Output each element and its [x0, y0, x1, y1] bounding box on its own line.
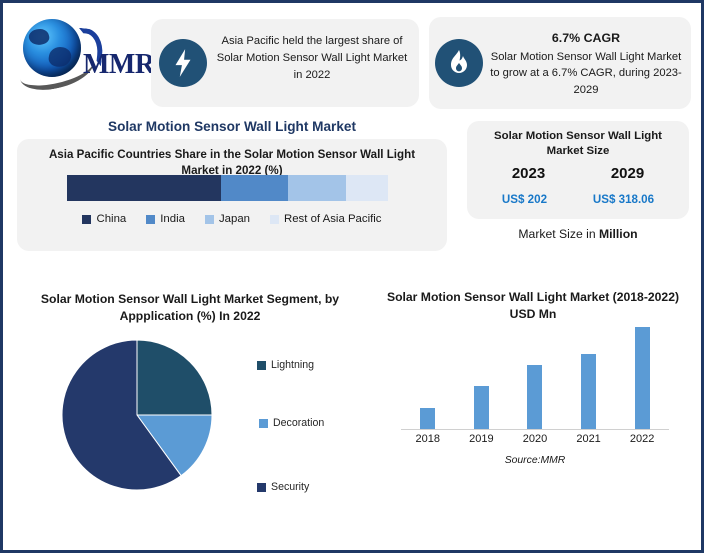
market-size-title: Solar Motion Sensor Wall Light Market Si… — [479, 129, 677, 160]
header-row: MMR Asia Pacific held the largest share … — [3, 9, 704, 115]
column-bar — [581, 354, 596, 429]
market-size-years: 2023 2029 — [479, 165, 677, 182]
column-bar — [474, 386, 489, 429]
legend-label: China — [96, 213, 126, 225]
legend-swatch-icon — [82, 215, 91, 224]
legend-swatch-icon — [257, 361, 266, 370]
column-bar — [527, 365, 542, 429]
legend-label: Japan — [219, 213, 250, 225]
legend-item: China — [82, 213, 126, 225]
flame-icon — [435, 39, 483, 87]
cagr-headline: 6.7% CAGR — [487, 29, 685, 48]
stacked-bar-series — [67, 175, 388, 201]
highlight-card-region: Asia Pacific held the largest share of S… — [151, 19, 419, 107]
segment-pie-legend: LightningDecorationSecurity — [253, 359, 363, 499]
highlight-region-text: Asia Pacific held the largest share of S… — [213, 33, 411, 83]
legend-swatch-icon — [270, 215, 279, 224]
legend-item: Rest of Asia Pacific — [270, 213, 382, 225]
column-x-label: 2021 — [576, 433, 600, 445]
market-size-card: Solar Motion Sensor Wall Light Market Si… — [467, 121, 689, 219]
column-x-label: 2020 — [523, 433, 547, 445]
cagr-description: Solar Motion Sensor Wall Light Market to… — [490, 51, 682, 97]
mmr-logo[interactable]: MMR — [19, 17, 151, 89]
stacked-bar-segment — [288, 175, 346, 201]
market-size-year-end: 2029 — [611, 165, 644, 182]
segment-pie-chart — [61, 339, 213, 491]
chart-title-share: Asia Pacific Countries Share in the Sola… — [35, 147, 429, 178]
column-chart-x-labels: 20182019202020212022 — [401, 433, 669, 445]
column-x-label: 2022 — [630, 433, 654, 445]
historic-column-chart — [401, 327, 669, 429]
lightning-bolt-icon — [159, 39, 207, 87]
legend-label: Decoration — [273, 417, 324, 429]
highlight-card-cagr: 6.7% CAGR Solar Motion Sensor Wall Light… — [429, 17, 691, 109]
legend-label: India — [160, 213, 185, 225]
highlight-cagr-text: 6.7% CAGR Solar Motion Sensor Wall Light… — [487, 29, 685, 99]
infographic-canvas: MMR Asia Pacific held the largest share … — [0, 0, 704, 553]
legend-swatch-icon — [205, 215, 214, 224]
column-bar — [635, 327, 650, 429]
legend-swatch-icon — [257, 483, 266, 492]
legend-label: Rest of Asia Pacific — [284, 213, 382, 225]
market-size-footnote-unit: Million — [599, 227, 638, 241]
legend-item: Decoration — [259, 417, 324, 429]
column-bars — [401, 327, 669, 429]
stacked-bar-segment — [346, 175, 388, 201]
chart-title-historic: Solar Motion Sensor Wall Light Market (2… — [383, 289, 683, 323]
legend-swatch-icon — [146, 215, 155, 224]
logo-text: MMR — [83, 49, 155, 81]
page-title: Solar Motion Sensor Wall Light Market — [17, 119, 447, 134]
asia-pacific-share-chart: Asia Pacific Countries Share in the Sola… — [17, 139, 447, 251]
legend-item: Japan — [205, 213, 250, 225]
market-size-value-start: US$ 202 — [502, 193, 547, 206]
legend-swatch-icon — [259, 419, 268, 428]
stacked-bar-segment — [67, 175, 221, 201]
legend-item: Security — [257, 481, 309, 493]
legend-label: Lightning — [271, 359, 314, 371]
legend-item: Lightning — [257, 359, 314, 371]
market-size-footnote: Market Size in Million — [467, 227, 689, 241]
legend-item: India — [146, 213, 185, 225]
column-x-label: 2018 — [416, 433, 440, 445]
column-bar — [420, 408, 435, 429]
market-size-values: US$ 202 US$ 318.06 — [479, 193, 677, 206]
market-size-footnote-prefix: Market Size in — [518, 227, 599, 241]
column-x-label: 2019 — [469, 433, 493, 445]
column-chart-axis — [401, 429, 669, 430]
market-size-year-start: 2023 — [512, 165, 545, 182]
stacked-bar-segment — [221, 175, 288, 201]
chart-title-segment: Solar Motion Sensor Wall Light Market Se… — [25, 291, 355, 325]
pie-slice — [137, 340, 212, 415]
market-size-value-end: US$ 318.06 — [593, 193, 654, 206]
chart-source-label: Source:MMR — [401, 455, 669, 466]
stacked-bar-legend: ChinaIndiaJapanRest of Asia Pacific — [35, 213, 429, 225]
legend-label: Security — [271, 481, 309, 493]
